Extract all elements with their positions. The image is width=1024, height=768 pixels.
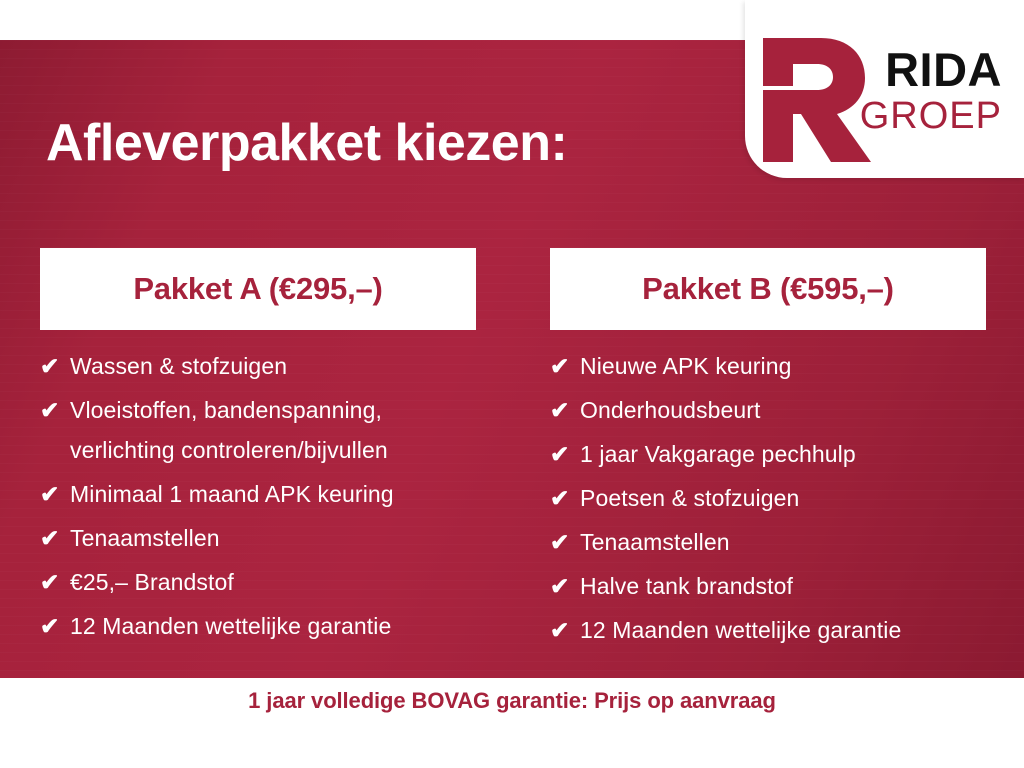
feature-label: Vloeistoffen, bandenspanning, verlichtin…	[70, 390, 476, 470]
brand-logo-panel: RIDA GROEP	[745, 0, 1024, 178]
check-icon: ✔	[40, 606, 70, 646]
check-icon: ✔	[40, 562, 70, 602]
check-icon: ✔	[40, 518, 70, 558]
feature-label: Tenaamstellen	[70, 518, 476, 558]
feature-label: 12 Maanden wettelijke garantie	[70, 606, 476, 646]
list-item: ✔ Halve tank brandstof	[550, 566, 986, 606]
list-item: ✔ 12 Maanden wettelijke garantie	[550, 610, 986, 650]
feature-label: €25,– Brandstof	[70, 562, 476, 602]
feature-label: Nieuwe APK keuring	[580, 346, 986, 386]
footer-note: 1 jaar volledige BOVAG garantie: Prijs o…	[0, 688, 1024, 714]
package-a-header: Pakket A (€295,–)	[40, 248, 476, 330]
list-item: ✔ 1 jaar Vakgarage pechhulp	[550, 434, 986, 474]
check-icon: ✔	[40, 346, 70, 386]
package-column-b: Pakket B (€595,–) ✔ Nieuwe APK keuring ✔…	[550, 248, 986, 654]
package-b-header: Pakket B (€595,–)	[550, 248, 986, 330]
list-item: ✔ Tenaamstellen	[550, 522, 986, 562]
check-icon: ✔	[550, 566, 580, 606]
package-a-feature-list: ✔ Wassen & stofzuigen ✔ Vloeistoffen, ba…	[40, 346, 476, 646]
list-item: ✔ Poetsen & stofzuigen	[550, 478, 986, 518]
check-icon: ✔	[550, 434, 580, 474]
feature-label: Poetsen & stofzuigen	[580, 478, 986, 518]
check-icon: ✔	[550, 522, 580, 562]
list-item: ✔ 12 Maanden wettelijke garantie	[40, 606, 476, 646]
package-b-feature-list: ✔ Nieuwe APK keuring ✔ Onderhoudsbeurt ✔…	[550, 346, 986, 650]
list-item: ✔ Tenaamstellen	[40, 518, 476, 558]
slide-root: RIDA GROEP Afleverpakket kiezen: Pakket …	[0, 0, 1024, 768]
feature-label: Onderhoudsbeurt	[580, 390, 986, 430]
brand-name-secondary: GROEP	[860, 97, 1002, 135]
feature-label: Wassen & stofzuigen	[70, 346, 476, 386]
list-item: ✔ €25,– Brandstof	[40, 562, 476, 602]
feature-label: 12 Maanden wettelijke garantie	[580, 610, 986, 650]
check-icon: ✔	[550, 390, 580, 430]
feature-label: 1 jaar Vakgarage pechhulp	[580, 434, 986, 474]
footer-band: 1 jaar volledige BOVAG garantie: Prijs o…	[0, 678, 1024, 768]
package-b-title: Pakket B (€595,–)	[642, 271, 894, 307]
check-icon: ✔	[550, 478, 580, 518]
rida-r-monogram-icon	[759, 34, 875, 162]
feature-label: Tenaamstellen	[580, 522, 986, 562]
feature-label: Minimaal 1 maand APK keuring	[70, 474, 476, 514]
brand-name-primary: RIDA	[860, 46, 1002, 93]
list-item: ✔ Nieuwe APK keuring	[550, 346, 986, 386]
list-item: ✔ Vloeistoffen, bandenspanning, verlicht…	[40, 390, 476, 470]
list-item: ✔ Minimaal 1 maand APK keuring	[40, 474, 476, 514]
check-icon: ✔	[550, 346, 580, 386]
package-a-title: Pakket A (€295,–)	[133, 271, 382, 307]
list-item: ✔ Onderhoudsbeurt	[550, 390, 986, 430]
check-icon: ✔	[550, 610, 580, 650]
list-item: ✔ Wassen & stofzuigen	[40, 346, 476, 386]
check-icon: ✔	[40, 474, 70, 514]
check-icon: ✔	[40, 390, 70, 430]
brand-wordmark: RIDA GROEP	[860, 46, 1002, 135]
package-column-a: Pakket A (€295,–) ✔ Wassen & stofzuigen …	[40, 248, 476, 650]
feature-label: Halve tank brandstof	[580, 566, 986, 606]
